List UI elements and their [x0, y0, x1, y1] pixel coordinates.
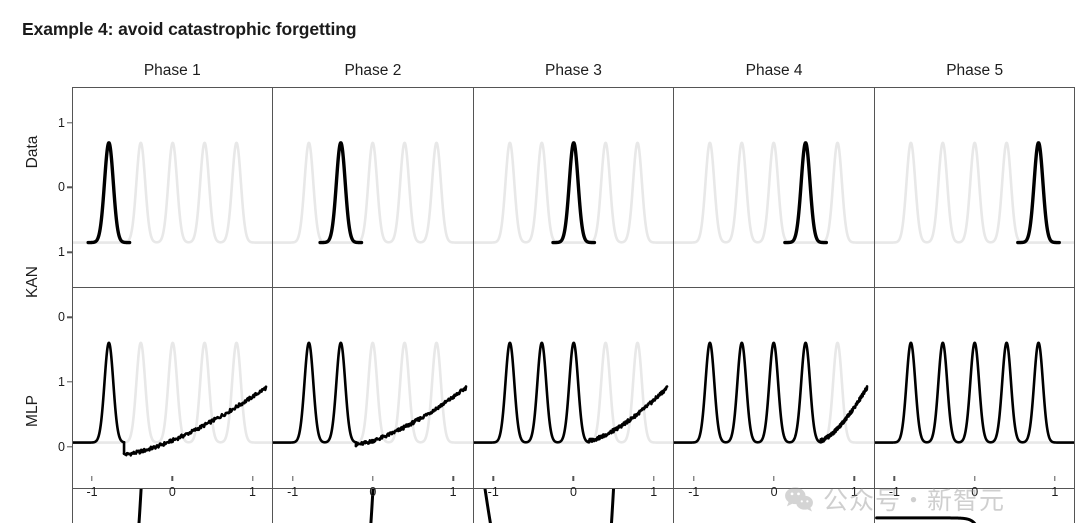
- x-axis-cell-phase-3: -1 0 1: [473, 476, 674, 516]
- active-peak-curve: [320, 143, 361, 243]
- plot-panel-data-phase-3[interactable]: [474, 87, 674, 288]
- x-tick-mark-1: [252, 476, 253, 481]
- x-tick-mark-0: [974, 476, 975, 481]
- column-header-phase-4: Phase 4: [674, 58, 875, 84]
- x-tick-label-1: 1: [650, 485, 657, 499]
- ghost-peaks: [474, 143, 673, 243]
- x-tick-label-1: 1: [249, 485, 256, 499]
- y-tick-label-1: 1: [58, 245, 65, 259]
- kan-curve-peaks: [273, 343, 356, 443]
- y-tick-label-0: 0: [58, 440, 65, 454]
- plot-canvas: [273, 88, 472, 287]
- x-axis-cell-phase-4: -1 0 1: [674, 476, 875, 516]
- plot-canvas: [674, 88, 873, 287]
- x-tick-mark-neg1: [894, 476, 895, 481]
- plot-panel-kan-phase-1[interactable]: [72, 288, 273, 488]
- x-tick-label-0: 0: [369, 485, 376, 499]
- x-tick-label-0: 0: [771, 485, 778, 499]
- plot-panel-kan-phase-2[interactable]: [273, 288, 473, 488]
- ghost-peaks: [273, 143, 472, 243]
- x-tick-mark-neg1: [292, 476, 293, 481]
- active-peak-curve: [553, 143, 594, 243]
- kan-curve-peaks: [674, 343, 821, 443]
- plot-panel-data-phase-5[interactable]: [875, 87, 1075, 288]
- plot-panel-data-phase-4[interactable]: [674, 87, 874, 288]
- plot-canvas: [73, 88, 272, 287]
- x-tick-mark-1: [452, 476, 453, 481]
- x-tick-label-neg1: -1: [86, 485, 97, 499]
- plot-canvas: [875, 88, 1074, 287]
- mlp-curve: [876, 518, 1072, 523]
- plot-panel-data-phase-2[interactable]: [273, 87, 473, 288]
- y-tick-label-0: 0: [58, 310, 65, 324]
- active-peak-curve: [88, 143, 129, 243]
- x-tick-mark-1: [854, 476, 855, 481]
- x-tick-label-neg1: -1: [889, 485, 900, 499]
- column-header-phase-3: Phase 3: [473, 58, 674, 84]
- x-tick-mark-0: [773, 476, 774, 481]
- x-axis-ticks: -1 0 1 -1 0 1 -1 0 1 -1 0 1: [72, 476, 1075, 516]
- plot-canvas: [73, 288, 272, 487]
- x-axis-cell-phase-1: -1 0 1: [72, 476, 273, 516]
- y-tick-label-1: 1: [58, 116, 65, 130]
- active-peak-curve: [785, 143, 826, 243]
- x-tick-label-1: 1: [851, 485, 858, 499]
- column-header-band: Phase 1 Phase 2 Phase 3 Phase 4 Phase 5: [72, 58, 1075, 84]
- plot-grid: [72, 87, 1075, 476]
- x-axis-cell-phase-5: -1 0 1: [874, 476, 1075, 516]
- x-tick-mark-neg1: [693, 476, 694, 481]
- kan-curve: [875, 343, 1074, 443]
- plot-row-data: [72, 87, 1075, 288]
- y-axis-ticks: 1 0 1 0 1 0: [18, 87, 72, 476]
- plot-panel-data-phase-1[interactable]: [72, 87, 273, 288]
- x-tick-mark-0: [372, 476, 373, 481]
- x-tick-mark-1: [653, 476, 654, 481]
- y-axis-row-data: 1 0: [18, 87, 72, 217]
- plot-canvas: [474, 288, 673, 487]
- kan-curve-peaks: [474, 343, 589, 443]
- y-tick-label-0: 0: [58, 180, 65, 194]
- plot-panel-kan-phase-4[interactable]: [674, 288, 874, 488]
- plot-canvas: [273, 288, 472, 487]
- plot-canvas: [875, 288, 1074, 487]
- column-header-phase-1: Phase 1: [72, 58, 273, 84]
- ghost-peaks: [674, 143, 873, 243]
- column-header-phase-2: Phase 2: [273, 58, 474, 84]
- plot-panel-kan-phase-3[interactable]: [474, 288, 674, 488]
- y-tick-label-1: 1: [58, 375, 65, 389]
- x-tick-mark-0: [172, 476, 173, 481]
- x-tick-mark-1: [1054, 476, 1055, 481]
- x-tick-mark-neg1: [493, 476, 494, 481]
- plot-row-kan: [72, 288, 1075, 488]
- x-tick-label-neg1: -1: [488, 485, 499, 499]
- x-tick-label-0: 0: [570, 485, 577, 499]
- y-axis-row-kan: 1 0: [18, 217, 72, 347]
- x-tick-label-1: 1: [1051, 485, 1058, 499]
- figure-root: Example 4: avoid catastrophic forgetting…: [0, 0, 1080, 523]
- x-tick-label-neg1: -1: [688, 485, 699, 499]
- column-header-phase-5: Phase 5: [874, 58, 1075, 84]
- plot-canvas: [474, 88, 673, 287]
- x-tick-label-1: 1: [450, 485, 457, 499]
- x-tick-label-0: 0: [971, 485, 978, 499]
- y-axis-row-mlp: 1 0: [18, 346, 72, 476]
- x-tick-label-0: 0: [169, 485, 176, 499]
- page-title: Example 4: avoid catastrophic forgetting: [22, 19, 356, 40]
- x-axis-cell-phase-2: -1 0 1: [273, 476, 474, 516]
- kan-curve-peaks: [73, 343, 124, 443]
- plot-panel-kan-phase-5[interactable]: [875, 288, 1075, 488]
- active-peak-curve: [1017, 143, 1058, 243]
- x-tick-label-neg1: -1: [287, 485, 298, 499]
- plot-canvas: [674, 288, 873, 487]
- x-tick-mark-neg1: [91, 476, 92, 481]
- x-tick-mark-0: [573, 476, 574, 481]
